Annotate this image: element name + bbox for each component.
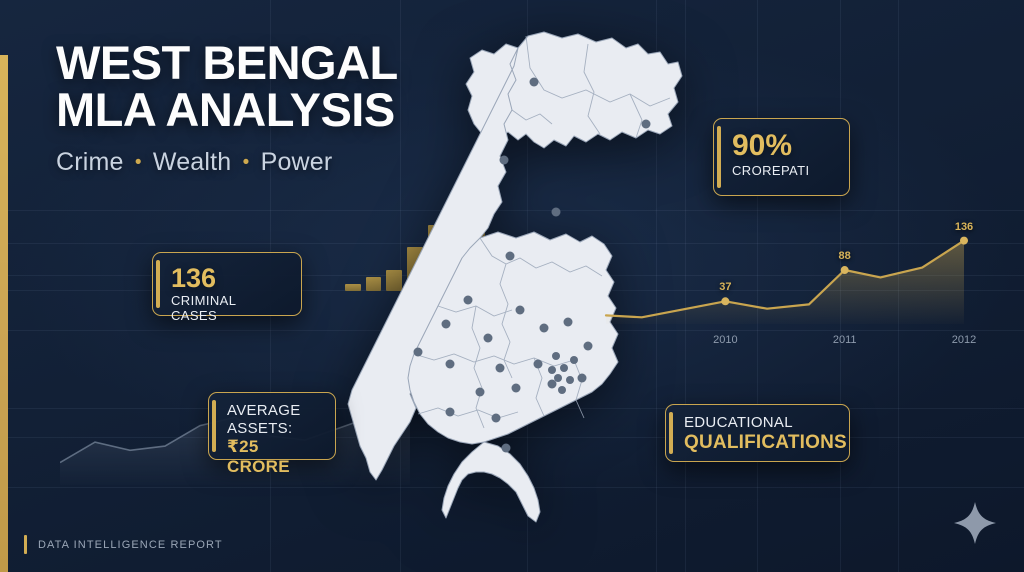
x-axis-tick: 2010 xyxy=(713,334,737,346)
data-label: 37 xyxy=(719,281,731,293)
bullet-icon: • xyxy=(131,152,146,173)
x-axis-tick: 2012 xyxy=(952,334,976,346)
criminal-cases-label: CRIMINAL CASES xyxy=(171,293,285,323)
subtitle-part-crime: Crime xyxy=(56,148,124,176)
assets-label-line2: ASSETS: xyxy=(227,420,319,438)
footer-label: DATA INTELLIGENCE REPORT xyxy=(38,539,223,551)
crorepati-label: CROREPATI xyxy=(732,163,833,178)
education-label-line2: QUALIFICATIONS xyxy=(684,432,833,454)
data-label: 88 xyxy=(839,250,851,262)
stat-card-crorepati[interactable]: 90% CROREPATI xyxy=(713,118,850,196)
left-accent-rail xyxy=(0,55,8,572)
stat-card-criminal-cases[interactable]: 136 CRIMINAL CASES xyxy=(152,252,302,316)
trend-line-chart: 3788136201020112012 xyxy=(600,210,970,360)
stat-card-average-assets[interactable]: AVERAGE ASSETS: ₹25 CRORE xyxy=(208,392,336,460)
data-point xyxy=(960,237,968,245)
crorepati-value: 90% xyxy=(732,130,833,162)
footer: DATA INTELLIGENCE REPORT xyxy=(24,535,223,554)
data-point xyxy=(841,266,849,274)
assets-label-line1: AVERAGE xyxy=(227,402,319,420)
education-label-line1: EDUCATIONAL xyxy=(684,414,833,432)
footer-accent-tick xyxy=(24,535,27,554)
stat-card-education[interactable]: EDUCATIONAL QUALIFICATIONS xyxy=(665,404,850,462)
assets-value: ₹25 CRORE xyxy=(227,437,319,477)
bullet-icon: • xyxy=(239,152,254,173)
sparkle-icon xyxy=(952,500,998,546)
data-point xyxy=(721,297,729,305)
criminal-cases-value: 136 xyxy=(171,264,285,292)
infographic-canvas: WEST BENGAL MLA ANALYSIS Crime • Wealth … xyxy=(0,0,1024,572)
x-axis-tick: 2011 xyxy=(833,334,857,346)
subtitle-part-wealth: Wealth xyxy=(153,148,232,176)
subtitle-part-power: Power xyxy=(261,148,333,176)
data-label: 136 xyxy=(955,221,973,233)
